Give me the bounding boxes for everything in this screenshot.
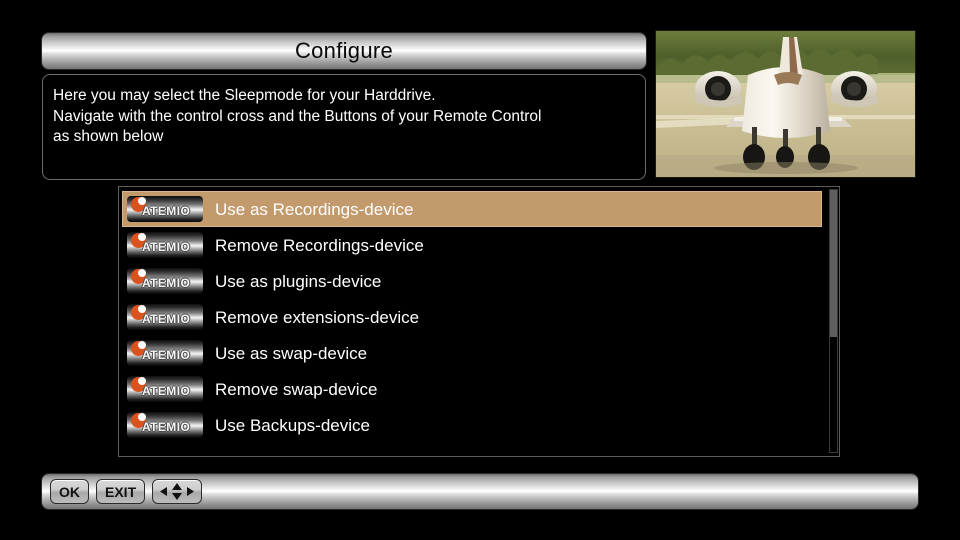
jet-photo-illustration: [656, 31, 915, 177]
atemio-wordmark: ATEMIO: [142, 349, 190, 361]
nav-cross-button[interactable]: [152, 479, 202, 504]
list-item-label: Use Backups-device: [215, 417, 370, 434]
exit-button[interactable]: EXIT: [96, 479, 145, 504]
atemio-wordmark: ATEMIO: [142, 205, 190, 217]
tv-settings-screen: Configure Here you may select the Sleepm…: [0, 0, 960, 540]
info-line-3: as shown below: [53, 127, 633, 148]
preview-image: [656, 31, 915, 177]
list-item-label: Remove extensions-device: [215, 309, 419, 326]
nav-cross-icon: [159, 483, 195, 500]
list-item[interactable]: ATEMIO Remove swap-device: [122, 371, 822, 407]
ok-button[interactable]: OK: [50, 479, 89, 504]
atemio-logo-icon: ATEMIO: [127, 196, 203, 222]
list-item[interactable]: ATEMIO Use as Recordings-device: [122, 191, 822, 227]
atemio-wordmark: ATEMIO: [142, 313, 190, 325]
list-scrollbar[interactable]: [830, 190, 837, 452]
ok-button-label: OK: [59, 485, 80, 499]
title-bar: Configure: [42, 33, 646, 69]
list-item[interactable]: ATEMIO Remove extensions-device: [122, 299, 822, 335]
page-title: Configure: [295, 40, 393, 62]
scrollbar-thumb[interactable]: [830, 190, 837, 337]
list-item-label: Use as swap-device: [215, 345, 367, 362]
list-item[interactable]: ATEMIO Remove Recordings-device: [122, 227, 822, 263]
atemio-logo-icon: ATEMIO: [127, 376, 203, 402]
exit-button-label: EXIT: [105, 485, 136, 499]
atemio-wordmark: ATEMIO: [142, 421, 190, 433]
atemio-wordmark: ATEMIO: [142, 385, 190, 397]
info-line-1: Here you may select the Sleepmode for yo…: [53, 86, 633, 107]
footer-button-bar: OK EXIT: [42, 474, 918, 509]
info-line-2: Navigate with the control cross and the …: [53, 107, 633, 128]
list-inner: ATEMIO Use as Recordings-device ATEMIO R…: [122, 191, 822, 453]
list-item[interactable]: ATEMIO Use Backups-device: [122, 407, 822, 443]
atemio-logo-icon: ATEMIO: [127, 412, 203, 438]
list-item-label: Use as Recordings-device: [215, 201, 413, 218]
list-item[interactable]: ATEMIO Use as swap-device: [122, 335, 822, 371]
atemio-logo-icon: ATEMIO: [127, 232, 203, 258]
list-item-label: Use as plugins-device: [215, 273, 381, 290]
atemio-logo-icon: ATEMIO: [127, 340, 203, 366]
atemio-logo-icon: ATEMIO: [127, 304, 203, 330]
atemio-wordmark: ATEMIO: [142, 277, 190, 289]
list-item-label: Remove swap-device: [215, 381, 378, 398]
list-item-label: Remove Recordings-device: [215, 237, 424, 254]
device-options-list[interactable]: ATEMIO Use as Recordings-device ATEMIO R…: [118, 186, 840, 457]
atemio-logo-icon: ATEMIO: [127, 268, 203, 294]
info-panel: Here you may select the Sleepmode for yo…: [42, 74, 646, 180]
list-item[interactable]: ATEMIO Use as plugins-device: [122, 263, 822, 299]
atemio-wordmark: ATEMIO: [142, 241, 190, 253]
